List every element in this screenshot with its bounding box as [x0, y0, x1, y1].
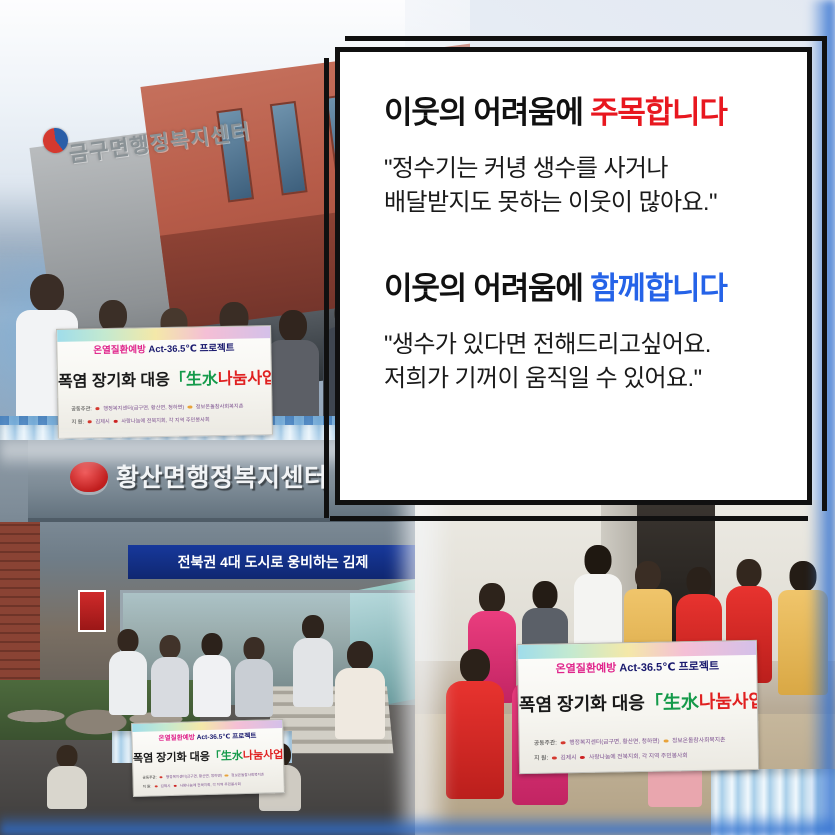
banner-bullet-icon	[663, 739, 668, 742]
frame-accent-line-right	[822, 36, 827, 511]
banner-line2-green: 生水	[663, 692, 699, 713]
banner-line1: 온열질환예방 Act-36.5℃ 프로젝트	[57, 339, 270, 357]
banner-line2: 폭염 장기화 대응「生水나눔사업」	[58, 364, 271, 392]
banner-fine2-label: 지 원:	[534, 756, 548, 762]
person	[266, 310, 320, 420]
banner-bullet-icon	[95, 407, 100, 410]
banner-bullet-icon	[225, 775, 228, 777]
banner-bullet-icon	[160, 776, 163, 778]
quote-block-2: "생수가 있다면 전해드리고싶어요. 저희가 기꺼이 움직일 수 있어요."	[384, 328, 807, 396]
frame-accent-line-top	[345, 36, 823, 41]
person-head	[57, 745, 78, 768]
banner-line2-red: 나눔사업	[218, 370, 273, 388]
person-kneeling	[46, 745, 88, 809]
person-head	[687, 567, 712, 596]
person-head	[244, 637, 265, 661]
banner-line1: 온열질환예방 Act-36.5℃ 프로젝트	[518, 657, 756, 677]
banner-line1-pink: 온열질환예방	[93, 344, 146, 356]
person-body	[293, 638, 333, 707]
blue-slogan-text: 전북권 4대 도시로 웅비하는 김제	[178, 552, 369, 572]
person	[292, 615, 334, 707]
banner-fine-line2: 지 원: 김제시 사랑나눔에 전북지회, 각 지역 주민봉사회	[71, 415, 259, 425]
person-head	[160, 635, 181, 659]
quote-1-line-1: "정수기는 커녕 생수를 사거나	[384, 152, 807, 186]
banner-fine2-a: 김제시	[560, 755, 576, 761]
banner-bullet-icon	[154, 785, 157, 787]
person-head	[302, 615, 324, 640]
banner-fine1-label: 공동주관:	[71, 406, 92, 412]
frame-accent-line-left	[324, 58, 329, 518]
banner-line1-act: Act-36.5℃ 프로젝트	[148, 343, 234, 356]
banner-group-indoor: 온열질환예방 Act-36.5℃ 프로젝트 폭염 장기화 대응「生水나눔사업」 …	[517, 640, 759, 774]
person	[334, 641, 386, 739]
banner-fine-line1: 공동주관: 행정복지센터(금구면, 황산면, 청하면) 정보온돌참사회복지촌	[534, 734, 744, 747]
banner-fine2-a: 김제시	[161, 784, 171, 788]
banner-fine1-b: 정보온돌참사회복지촌	[231, 773, 264, 778]
person-body	[235, 659, 273, 717]
banner-line2-red: 나눔사업	[699, 691, 759, 712]
person-body	[267, 340, 319, 420]
banner-fine2-b: 사랑나눔에 전북지회, 각 지역 주민봉사회	[121, 417, 209, 425]
person-head	[737, 559, 762, 588]
person-head	[347, 641, 373, 670]
person	[192, 633, 232, 717]
banner-geumgu: 온열질환예방 Act-36.5℃ 프로젝트 폭염 장기화 대응「生水나눔사업」 …	[56, 325, 273, 439]
poster-card: 금구면행정복지센터	[0, 0, 835, 835]
banner-fine2-label: 지 원:	[71, 419, 84, 425]
banner-fine1-a: 행정복지센터(금구면, 황산면, 청하면)	[103, 405, 184, 412]
person	[108, 629, 148, 715]
person-head	[585, 545, 612, 576]
person-head	[118, 629, 139, 653]
banner-fine1-a: 행정복지센터(금구면, 황산면, 청하면)	[569, 739, 659, 747]
banner-rainbow-strip	[518, 641, 756, 659]
blue-slogan-strip: 전북권 4대 도시로 웅비하는 김제	[128, 545, 418, 579]
banner-fine-line2: 지 원: 김제시 사랑나눔에 전북지회, 각 지역 주민봉사회	[534, 749, 744, 762]
banner-bullet-icon	[580, 756, 585, 759]
water-bottle-stack	[711, 769, 835, 835]
person-body	[151, 657, 189, 717]
person-head	[460, 649, 490, 683]
person-body	[109, 651, 147, 715]
banner-line2: 폭염 장기화 대응「生水나눔사업」	[133, 746, 283, 766]
banner-bullet-icon	[552, 756, 557, 759]
banner-fine2-label: 지 원:	[143, 784, 152, 788]
quote-2-line-2: 저희가 기꺼이 움직일 수 있어요."	[384, 362, 807, 396]
person-head	[790, 561, 817, 592]
banner-fine1-label: 공동주관:	[534, 740, 557, 746]
headline-block-1: 이웃의 어려움에 주목합니다	[384, 96, 807, 130]
banner-bullet-icon	[560, 741, 565, 744]
banner-hwangsan: 온열질환예방 Act-36.5℃ 프로젝트 폭염 장기화 대응「生水나눔사업」 …	[131, 719, 285, 797]
banner-fine2-b: 사랑나눔에 전북지회, 각 지역 주민봉사회	[589, 753, 688, 761]
person-head	[202, 633, 223, 657]
headline-2-plain: 이웃의 어려움에	[384, 271, 583, 306]
headline-2-accent: 함께합니다	[590, 271, 727, 306]
person	[777, 561, 829, 695]
banner-fine1-b: 정보온돌참사회복지촌	[196, 404, 244, 411]
person-body	[446, 681, 504, 799]
headline-1-accent: 주목합니다	[590, 95, 727, 130]
frame-accent-line-bottom	[330, 516, 808, 521]
banner-line2-black: 폭염 장기화 대응	[58, 372, 170, 391]
quote-block-1: "정수기는 커녕 생수를 사거나 배달받지도 못하는 이웃이 많아요."	[384, 152, 807, 220]
person	[445, 649, 505, 799]
person-head	[533, 581, 558, 610]
banner-bracket-open: 「	[210, 751, 221, 763]
hwangsan-logo-icon	[70, 462, 108, 492]
banner-fine1-b: 정보온돌참사회복지촌	[672, 737, 725, 744]
quote-1-line-2: 배달받지도 못하는 이웃이 많아요."	[384, 186, 807, 220]
banner-fine-line2: 지 원: 김제시 사랑나눔에 전북지회, 각 지역 주민봉사회	[143, 781, 275, 789]
person-body	[47, 766, 87, 809]
banner-line1-act: Act-36.5℃ 프로젝트	[619, 661, 719, 675]
banner-line2-red: 나눔사업	[243, 749, 284, 762]
banner-fine-line1: 공동주관: 행정복지센터(금구면, 황산면, 청하면) 정보온돌참사회복지촌	[71, 402, 259, 412]
headline-1-plain: 이웃의 어려움에	[384, 95, 583, 130]
person-body	[335, 668, 385, 739]
banner-bullet-icon	[113, 420, 118, 423]
message-block-2: 이웃의 어려움에 함께합니다 "생수가 있다면 전해드리고싶어요. 저희가 기꺼…	[384, 272, 807, 396]
banner-bullet-icon	[87, 420, 92, 423]
banner-line1-pink: 온열질환예방	[158, 734, 195, 742]
person-body	[778, 590, 828, 695]
building-sign-text: 황산면행정복지센터	[116, 458, 328, 494]
person	[234, 637, 274, 717]
banner-line2: 폭염 장기화 대응「生水나눔사업」	[519, 687, 757, 717]
banner-fine-line1: 공동주관: 행정복지센터(금구면, 황산면, 청하면) 정보온돌참사회복지촌	[142, 772, 274, 780]
banner-fine2-a: 김제시	[95, 419, 109, 425]
photo-group-indoor: 온열질환예방 Act-36.5℃ 프로젝트 폭염 장기화 대응「生水나눔사업」 …	[415, 500, 835, 835]
banner-fine1-a: 행정복지센터(금구면, 황산면, 청하면)	[166, 774, 222, 779]
banner-bullet-icon	[188, 406, 193, 409]
banner-line2-green: 生水	[186, 371, 218, 389]
headline-block-2: 이웃의 어려움에 함께합니다	[384, 272, 807, 306]
banner-bracket-open: 「	[645, 693, 663, 713]
person-head	[479, 583, 505, 613]
banner-fine1-label: 공동주관:	[142, 775, 156, 779]
red-wall-sign	[78, 590, 106, 632]
banner-line2-green: 生水	[221, 750, 243, 763]
person-head	[279, 310, 307, 342]
person-head	[30, 274, 64, 312]
banner-bracket-open: 「	[170, 372, 186, 389]
banner-line2-black: 폭염 장기화 대응	[133, 751, 210, 765]
person	[150, 635, 190, 717]
banner-fine2-b: 사랑나눔에 전북지회, 각 지역 주민봉사회	[180, 782, 241, 788]
person-body	[193, 655, 231, 717]
message-panel: 이웃의 어려움에 주목합니다 "정수기는 커녕 생수를 사거나 배달받지도 못하…	[335, 47, 812, 505]
quote-2-line-1: "생수가 있다면 전해드리고싶어요.	[384, 328, 807, 362]
banner-line1-pink: 온열질환예방	[555, 662, 616, 675]
person-head	[635, 561, 661, 591]
banner-line2-black: 폭염 장기화 대응	[519, 693, 645, 715]
banner-bullet-icon	[173, 785, 176, 787]
banner-line1-act: Act-36.5℃ 프로젝트	[197, 733, 257, 742]
